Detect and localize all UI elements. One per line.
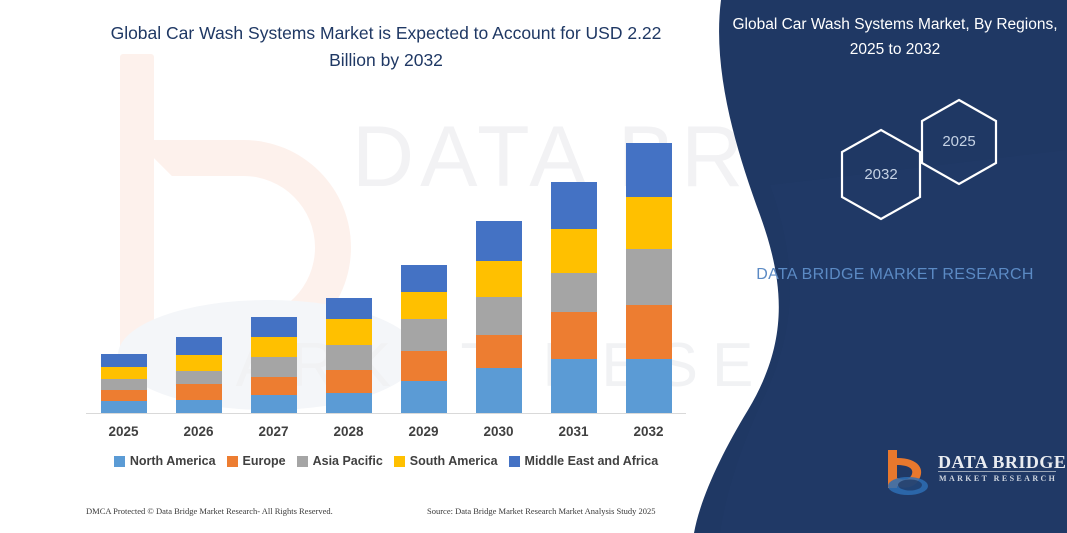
bar-segment-europe[interactable]: [101, 390, 147, 402]
dbmr-logo-subtitle: MARKET RESEARCH: [939, 474, 1057, 483]
brand-text: DATA BRIDGE MARKET RESEARCH: [730, 262, 1060, 288]
bar-2032[interactable]: [626, 143, 672, 413]
bar-segment-middle-east-and-africa[interactable]: [101, 354, 147, 367]
bar-segment-north-america[interactable]: [176, 400, 222, 413]
dbmr-logo: DATA BRIDGE MARKET RESEARCH: [878, 448, 1058, 496]
legend-item-north-america[interactable]: North America: [114, 454, 216, 468]
legend-label: Middle East and Africa: [525, 454, 659, 468]
bar-segment-middle-east-and-africa[interactable]: [176, 337, 222, 356]
bar-2028[interactable]: [326, 298, 372, 413]
legend-swatch-icon: [114, 456, 125, 467]
bar-segment-middle-east-and-africa[interactable]: [401, 265, 447, 292]
bar-segment-north-america[interactable]: [401, 381, 447, 413]
bar-segment-europe[interactable]: [551, 312, 597, 359]
legend-item-south-america[interactable]: South America: [394, 454, 498, 468]
x-label-2032: 2032: [614, 424, 684, 439]
x-label-2031: 2031: [539, 424, 609, 439]
bar-segment-south-america[interactable]: [551, 229, 597, 273]
bar-segment-asia-pacific[interactable]: [626, 249, 672, 305]
panel-title: Global Car Wash Systems Market, By Regio…: [730, 12, 1060, 62]
bar-2027[interactable]: [251, 317, 297, 413]
bar-segment-south-america[interactable]: [476, 261, 522, 297]
bar-segment-europe[interactable]: [251, 377, 297, 396]
footer-source: Source: Data Bridge Market Research Mark…: [427, 506, 656, 516]
bar-segment-north-america[interactable]: [476, 368, 522, 413]
bar-segment-europe[interactable]: [626, 305, 672, 360]
hex-2025-label: 2025: [922, 133, 996, 150]
bar-segment-asia-pacific[interactable]: [476, 297, 522, 335]
bar-segment-south-america[interactable]: [626, 197, 672, 249]
navy-panel-content: Global Car Wash Systems Market, By Regio…: [700, 0, 1067, 533]
bar-segment-asia-pacific[interactable]: [101, 379, 147, 390]
x-axis-labels: 20252026202720282029203020312032: [86, 424, 686, 444]
bar-segment-north-america[interactable]: [251, 395, 297, 413]
bar-segment-europe[interactable]: [326, 370, 372, 392]
hex-2032-label: 2032: [842, 166, 920, 183]
bar-segment-asia-pacific[interactable]: [401, 319, 447, 350]
x-label-2028: 2028: [314, 424, 384, 439]
bar-segment-europe[interactable]: [176, 384, 222, 401]
legend-item-asia-pacific[interactable]: Asia Pacific: [297, 454, 383, 468]
footer: DMCA Protected © Data Bridge Market Rese…: [0, 506, 700, 526]
bar-segment-north-america[interactable]: [626, 359, 672, 413]
legend-label: North America: [130, 454, 216, 468]
dbmr-logo-name: DATA BRIDGE: [938, 452, 1066, 473]
bar-segment-north-america[interactable]: [101, 401, 147, 413]
legend-swatch-icon: [509, 456, 520, 467]
x-label-2029: 2029: [389, 424, 459, 439]
bar-segment-middle-east-and-africa[interactable]: [476, 221, 522, 261]
infographic-canvas: DATA BRIDGE MARKET RESEARCH Global Car W…: [0, 0, 1067, 533]
legend-label: South America: [410, 454, 498, 468]
legend-swatch-icon: [227, 456, 238, 467]
x-axis-line: [86, 413, 686, 414]
chart-title: Global Car Wash Systems Market is Expect…: [86, 20, 686, 74]
legend-label: Asia Pacific: [313, 454, 383, 468]
bar-segment-north-america[interactable]: [551, 359, 597, 413]
bar-segment-asia-pacific[interactable]: [551, 273, 597, 312]
hexagon-group: 2025 2032: [828, 96, 1018, 216]
bar-segment-north-america[interactable]: [326, 393, 372, 414]
x-label-2030: 2030: [464, 424, 534, 439]
bar-segment-asia-pacific[interactable]: [251, 357, 297, 377]
chart-legend: North AmericaEuropeAsia PacificSouth Ame…: [86, 454, 686, 468]
bar-segment-asia-pacific[interactable]: [176, 371, 222, 384]
bar-segment-middle-east-and-africa[interactable]: [626, 143, 672, 198]
chart-panel: Global Car Wash Systems Market is Expect…: [0, 0, 720, 533]
bar-2031[interactable]: [551, 182, 597, 413]
bar-segment-middle-east-and-africa[interactable]: [251, 317, 297, 337]
bar-segment-south-america[interactable]: [401, 292, 447, 319]
bar-segment-europe[interactable]: [476, 335, 522, 368]
bar-2026[interactable]: [176, 337, 222, 413]
bar-segment-asia-pacific[interactable]: [326, 345, 372, 370]
legend-item-middle-east-and-africa[interactable]: Middle East and Africa: [509, 454, 659, 468]
bar-segment-south-america[interactable]: [326, 319, 372, 344]
bar-segment-middle-east-and-africa[interactable]: [326, 298, 372, 319]
bar-segment-south-america[interactable]: [251, 337, 297, 358]
bar-segment-south-america[interactable]: [101, 367, 147, 379]
legend-label: Europe: [243, 454, 286, 468]
legend-swatch-icon: [297, 456, 308, 467]
bar-2030[interactable]: [476, 221, 522, 413]
legend-item-europe[interactable]: Europe: [227, 454, 286, 468]
footer-copyright: DMCA Protected © Data Bridge Market Rese…: [86, 506, 333, 516]
x-label-2026: 2026: [164, 424, 234, 439]
stacked-bar-plot: [86, 120, 686, 413]
x-label-2027: 2027: [239, 424, 309, 439]
bar-2029[interactable]: [401, 265, 447, 413]
bar-segment-south-america[interactable]: [176, 355, 222, 371]
bar-2025[interactable]: [101, 354, 147, 413]
legend-swatch-icon: [394, 456, 405, 467]
dbmr-logo-icon: [878, 448, 936, 496]
bar-segment-middle-east-and-africa[interactable]: [551, 182, 597, 230]
x-label-2025: 2025: [89, 424, 159, 439]
bar-segment-europe[interactable]: [401, 351, 447, 381]
